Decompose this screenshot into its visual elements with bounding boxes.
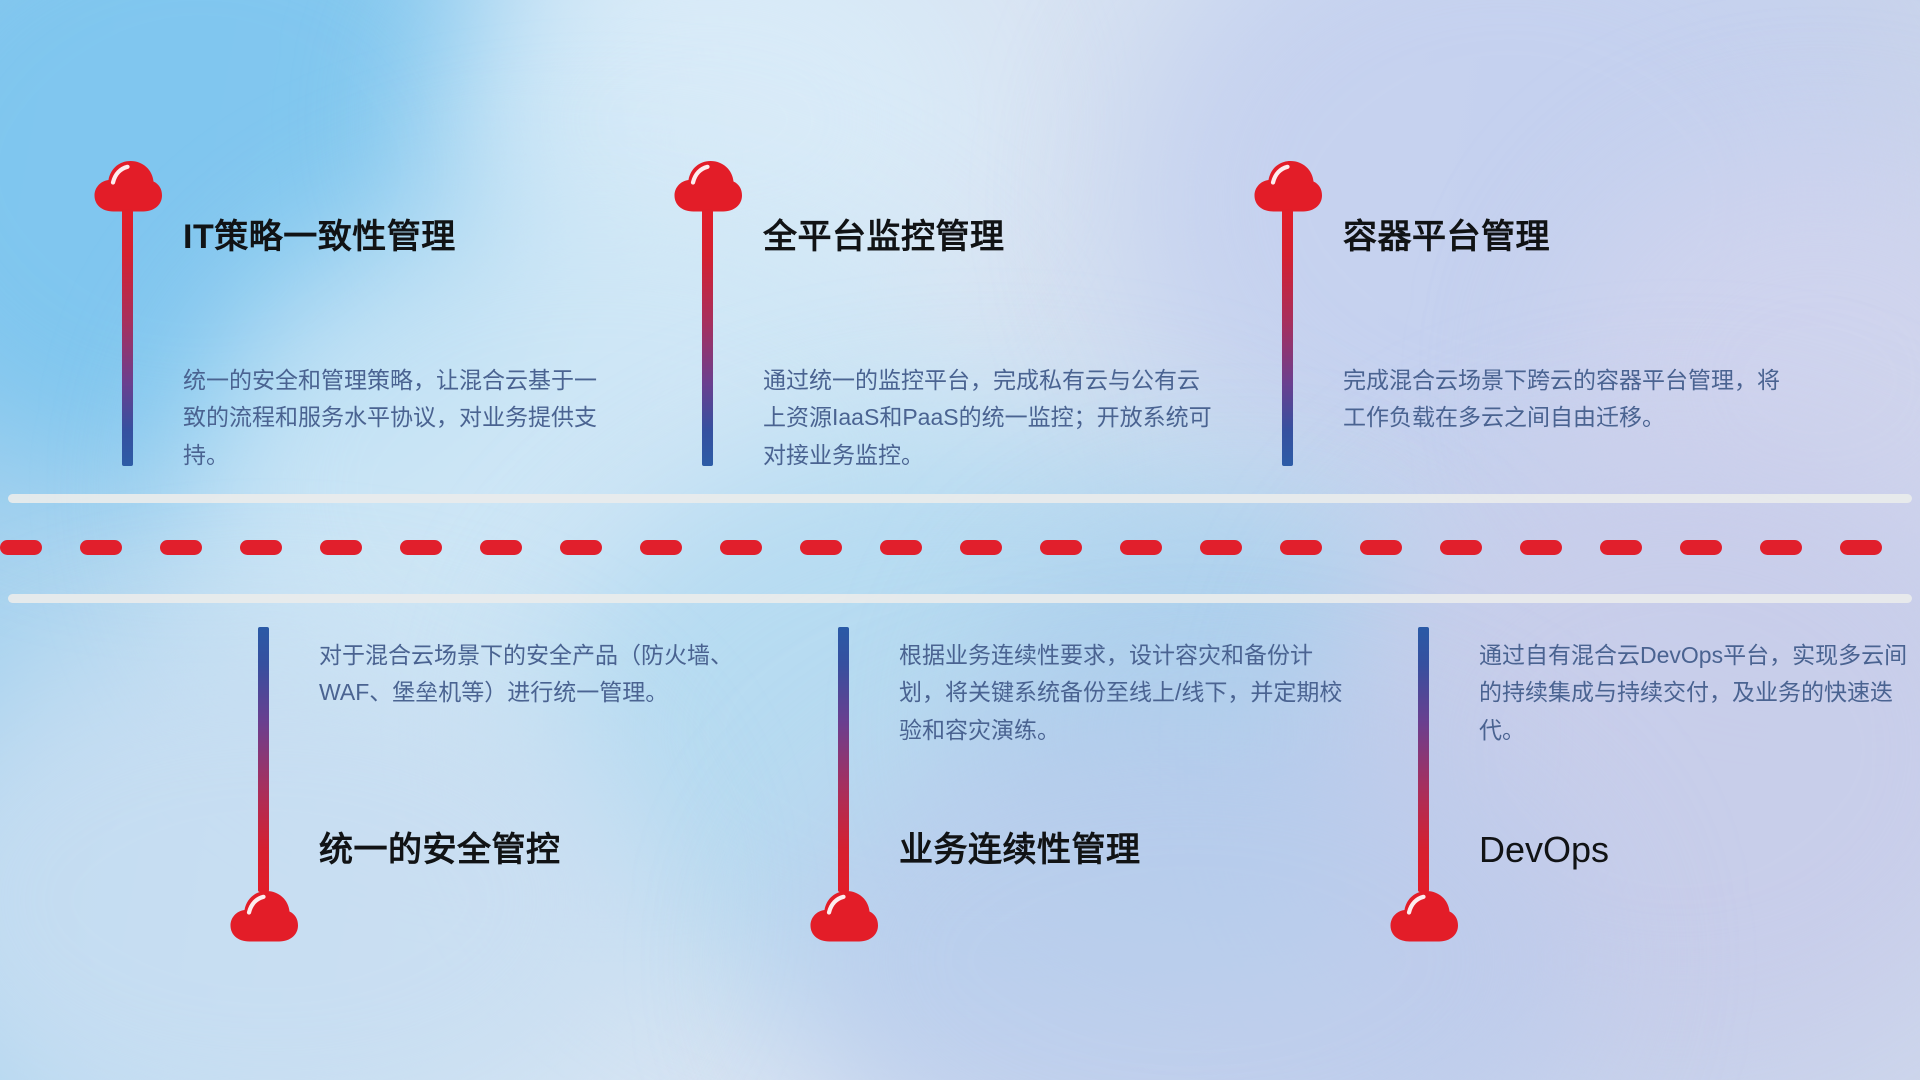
divider-dash xyxy=(640,540,682,555)
column-stem xyxy=(258,627,269,892)
divider-dashed-road-line xyxy=(0,540,1920,555)
divider-dash xyxy=(720,540,762,555)
divider-rule-bottom xyxy=(8,594,1912,603)
divider-dash xyxy=(880,540,922,555)
column-body: 对于混合云场景下的安全产品（防火墙、WAF、堡垒机等）进行统一管理。 xyxy=(319,637,749,712)
divider-dash xyxy=(160,540,202,555)
cloud-icon xyxy=(673,160,743,212)
divider-dash xyxy=(1600,540,1642,555)
cloud-icon xyxy=(809,890,879,942)
divider-dash xyxy=(320,540,362,555)
infographic-canvas: IT策略一致性管理 统一的安全和管理策略，让混合云基于一致的流程和服务水平协议，… xyxy=(0,0,1920,1080)
column-stem xyxy=(1418,627,1429,892)
column-title: IT策略一致性管理 xyxy=(183,219,456,256)
column-stem xyxy=(122,208,133,466)
divider-dash xyxy=(1520,540,1562,555)
divider-dash xyxy=(400,540,442,555)
column-body: 统一的安全和管理策略，让混合云基于一致的流程和服务水平协议，对业务提供支持。 xyxy=(183,362,613,474)
cloud-icon xyxy=(1253,160,1323,212)
divider-dash xyxy=(1280,540,1322,555)
divider-dash xyxy=(800,540,842,555)
divider-dash xyxy=(960,540,1002,555)
divider-dash xyxy=(1200,540,1242,555)
divider-dash xyxy=(1120,540,1162,555)
column-title: 统一的安全管控 xyxy=(319,832,561,869)
divider-dash xyxy=(560,540,602,555)
column-body: 通过自有混合云DevOps平台，实现多云间的持续集成与持续交付，及业务的快速迭代… xyxy=(1479,637,1909,749)
cloud-icon xyxy=(229,890,299,942)
divider-dash xyxy=(480,540,522,555)
column-title: 容器平台管理 xyxy=(1343,219,1550,256)
column-body: 根据业务连续性要求，设计容灾和备份计划，将关键系统备份至线上/线下，并定期校验和… xyxy=(899,637,1354,749)
column-title: 业务连续性管理 xyxy=(899,832,1141,869)
divider-dash xyxy=(1840,540,1882,555)
column-body: 完成混合云场景下跨云的容器平台管理，将工作负载在多云之间自由迁移。 xyxy=(1343,362,1798,437)
divider-dash xyxy=(240,540,282,555)
divider-dash xyxy=(1680,540,1722,555)
column-title: 全平台监控管理 xyxy=(763,219,1005,256)
divider-dash xyxy=(1440,540,1482,555)
cloud-icon xyxy=(1389,890,1459,942)
divider-dash xyxy=(1360,540,1402,555)
column-stem xyxy=(838,627,849,892)
column-body: 通过统一的监控平台，完成私有云与公有云上资源IaaS和PaaS的统一监控；开放系… xyxy=(763,362,1218,474)
divider-dash xyxy=(1040,540,1082,555)
divider-dash xyxy=(0,540,42,555)
divider-dash xyxy=(80,540,122,555)
column-title: DevOps xyxy=(1479,830,1609,870)
divider-rule-top xyxy=(8,494,1912,503)
divider-dash xyxy=(1760,540,1802,555)
cloud-icon xyxy=(93,160,163,212)
column-stem xyxy=(702,208,713,466)
column-stem xyxy=(1282,208,1293,466)
